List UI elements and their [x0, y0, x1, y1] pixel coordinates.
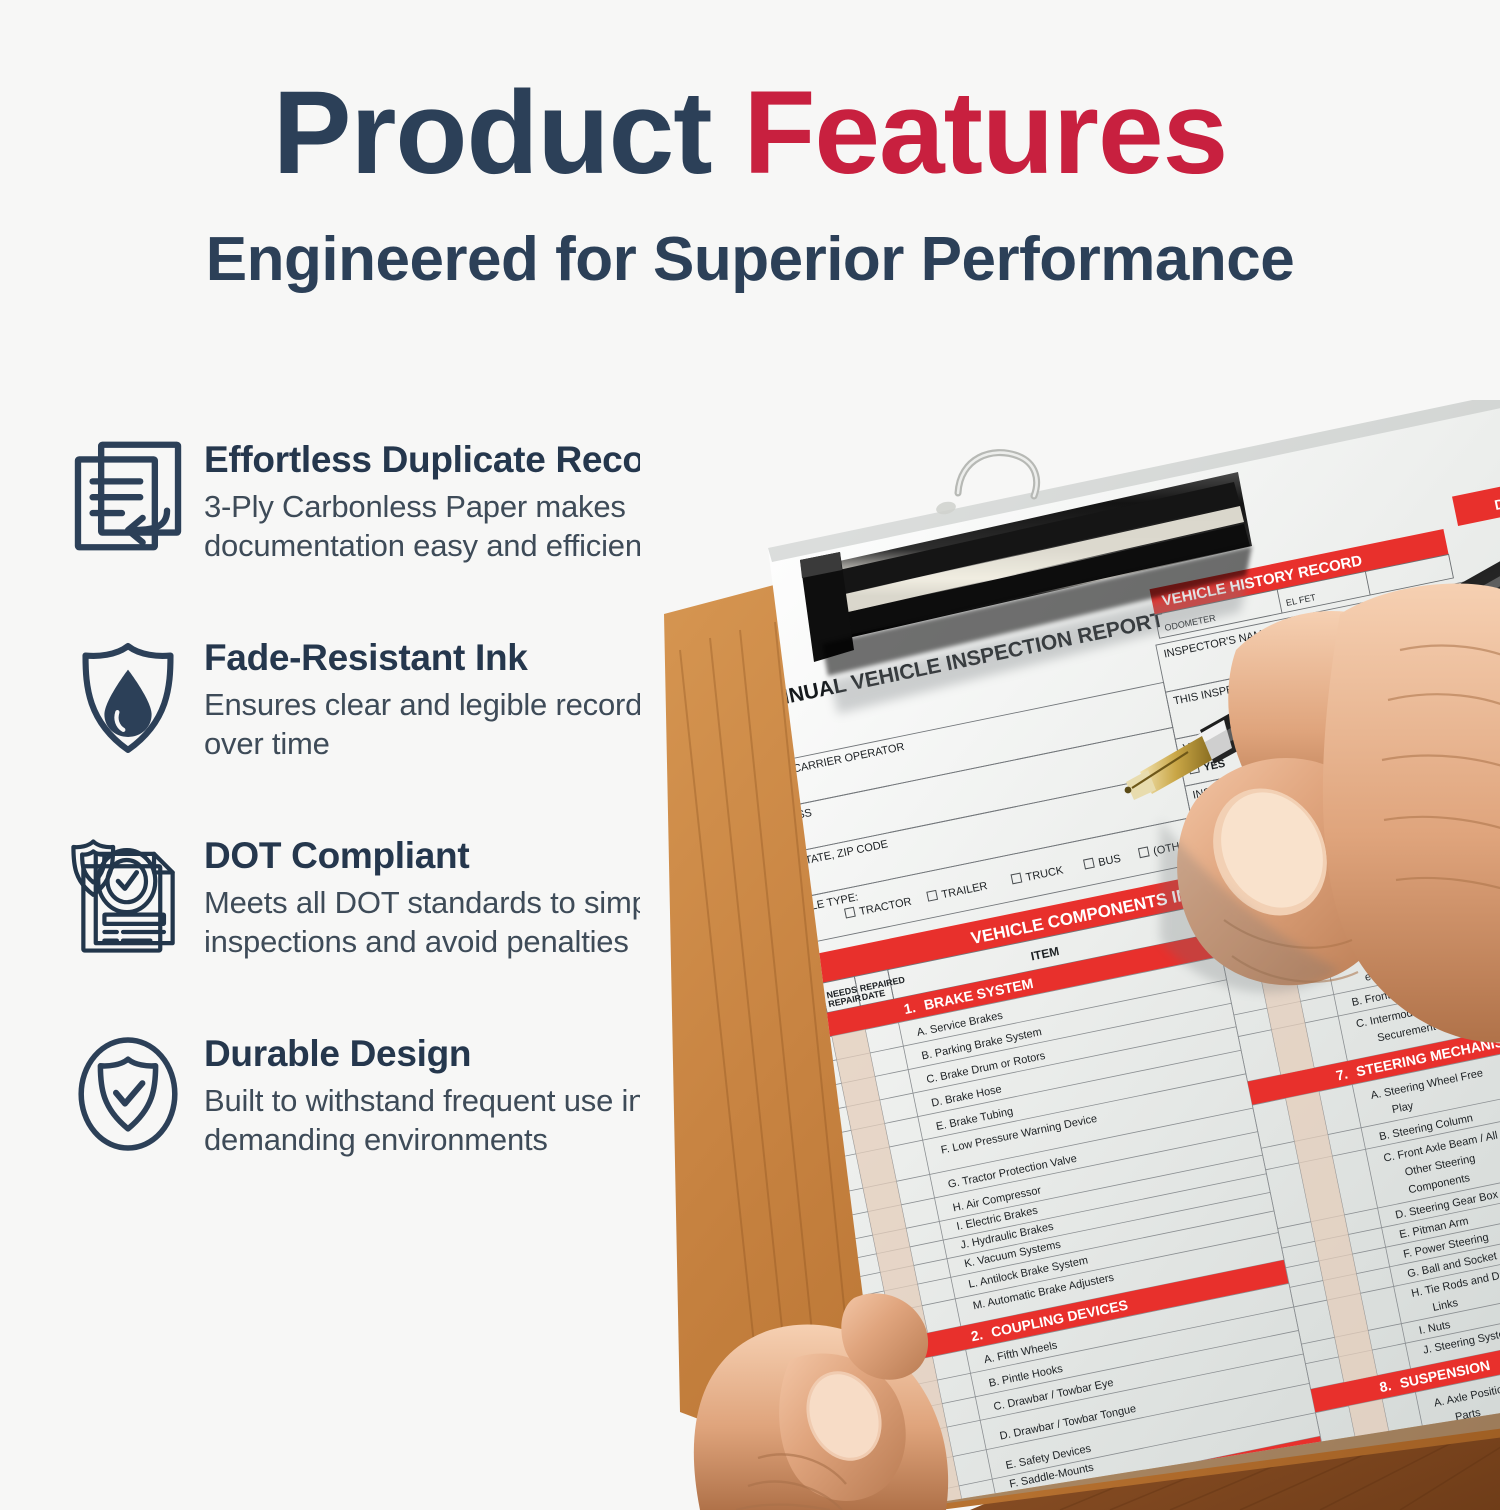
page-subtitle: Engineered for Superior Performance [0, 224, 1500, 295]
shield-ink-drop-icon [62, 632, 194, 764]
circle-shield-check-icon [62, 1028, 194, 1160]
shield-document-check-icon [62, 830, 194, 962]
feature-title: Durable Design [204, 1034, 645, 1075]
page-header: Product Features Engineered for Superior… [0, 0, 1500, 295]
feature-text-block: Effortless Duplicate Records 3-Ply Carbo… [194, 430, 701, 566]
page-title: Product Features [0, 72, 1500, 196]
product-photo: BUCK U.S ANNUAL VEHICLE INSPECTION REPOR… [640, 400, 1500, 1510]
feature-text-block: DOT Compliant Meets all DOT standards to… [194, 826, 686, 962]
page-title-word-product: Product [273, 67, 744, 199]
feature-title: Effortless Duplicate Records [204, 440, 701, 481]
feature-description: Meets all DOT standards to simplify insp… [204, 883, 686, 962]
feature-text-block: Durable Design Built to withstand freque… [194, 1024, 645, 1160]
feature-title: Fade-Resistant Ink [204, 638, 657, 679]
feature-title: DOT Compliant [204, 836, 686, 877]
duplicate-documents-icon [62, 430, 194, 562]
feature-description: 3-Ply Carbonless Paper makes documentati… [204, 487, 701, 566]
feature-description: Built to withstand frequent use in deman… [204, 1081, 645, 1160]
page-title-word-features: Features [743, 67, 1227, 199]
feature-description: Ensures clear and legible records over t… [204, 685, 657, 764]
feature-text-block: Fade-Resistant Ink Ensures clear and leg… [194, 628, 657, 764]
